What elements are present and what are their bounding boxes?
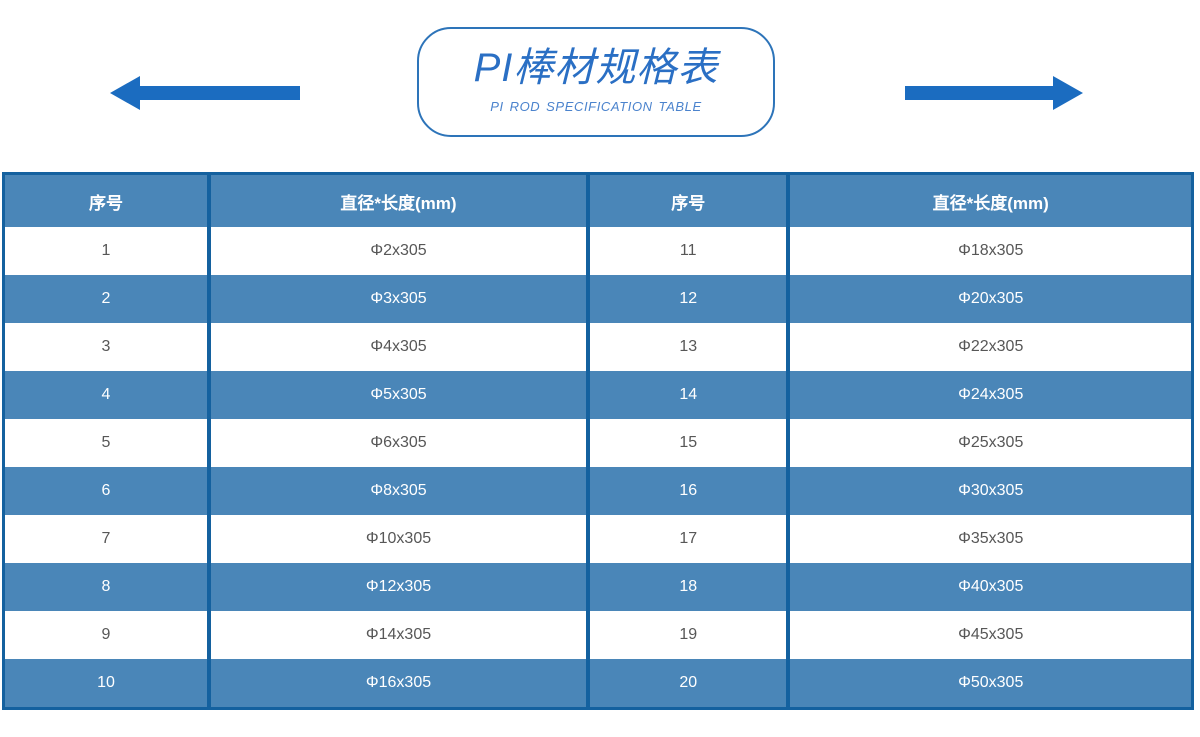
table-cell-no-left: 3 [4,323,210,371]
title-box: PI棒材规格表 PI Rod Specification Table [417,27,775,137]
table-cell-no-left: 5 [4,419,210,467]
table-cell-no-right: 17 [588,515,789,563]
table-cell-no-left: 7 [4,515,210,563]
spec-table: 序号 直径*长度(mm) 序号 直径*长度(mm) 1Φ2x30511Φ18x3… [2,172,1194,710]
table-cell-no-right: 20 [588,659,789,709]
table-cell-no-right: 15 [588,419,789,467]
arrow-right-icon [905,72,1083,92]
table-cell-no-left: 6 [4,467,210,515]
table-cell-no-right: 16 [588,467,789,515]
table-cell-no-left: 8 [4,563,210,611]
table-row: 4Φ5x30514Φ24x305 [4,371,1193,419]
banner: PI棒材规格表 PI Rod Specification Table [0,0,1200,165]
table-row: 1Φ2x30511Φ18x305 [4,227,1193,275]
table-row: 9Φ14x30519Φ45x305 [4,611,1193,659]
table-cell-spec-right: Φ30x305 [788,467,1192,515]
table-cell-no-right: 11 [588,227,789,275]
table-cell-spec-right: Φ24x305 [788,371,1192,419]
table-row: 7Φ10x30517Φ35x305 [4,515,1193,563]
table-cell-spec-left: Φ3x305 [209,275,588,323]
arrow-left-icon [110,72,300,92]
table-cell-no-left: 2 [4,275,210,323]
table-cell-spec-left: Φ5x305 [209,371,588,419]
table-cell-no-right: 13 [588,323,789,371]
table-row: 8Φ12x30518Φ40x305 [4,563,1193,611]
page-subtitle: PI Rod Specification Table [490,95,702,117]
table-cell-spec-left: Φ2x305 [209,227,588,275]
table-cell-spec-left: Φ10x305 [209,515,588,563]
page-title: PI棒材规格表 [474,47,719,89]
table-row: 10Φ16x30520Φ50x305 [4,659,1193,709]
table-cell-no-right: 19 [588,611,789,659]
table-header-row: 序号 直径*长度(mm) 序号 直径*长度(mm) [4,174,1193,228]
table-row: 2Φ3x30512Φ20x305 [4,275,1193,323]
table-cell-no-right: 18 [588,563,789,611]
table-cell-no-right: 12 [588,275,789,323]
table-cell-no-left: 4 [4,371,210,419]
table-header: 序号 直径*长度(mm) 序号 直径*长度(mm) [4,174,1193,228]
table-cell-spec-right: Φ50x305 [788,659,1192,709]
table-cell-no-left: 10 [4,659,210,709]
table-cell-spec-right: Φ40x305 [788,563,1192,611]
table-cell-spec-right: Φ20x305 [788,275,1192,323]
column-header-no-right: 序号 [588,174,789,228]
table-cell-spec-left: Φ8x305 [209,467,588,515]
table-body: 1Φ2x30511Φ18x3052Φ3x30512Φ20x3053Φ4x3051… [4,227,1193,709]
table-row: 5Φ6x30515Φ25x305 [4,419,1193,467]
table-cell-spec-left: Φ12x305 [209,563,588,611]
table-cell-spec-left: Φ14x305 [209,611,588,659]
table-cell-spec-right: Φ18x305 [788,227,1192,275]
table-row: 6Φ8x30516Φ30x305 [4,467,1193,515]
column-header-no-left: 序号 [4,174,210,228]
table-cell-spec-right: Φ25x305 [788,419,1192,467]
table-cell-spec-right: Φ22x305 [788,323,1192,371]
column-header-spec-right: 直径*长度(mm) [788,174,1192,228]
table-cell-spec-left: Φ4x305 [209,323,588,371]
table-cell-no-left: 1 [4,227,210,275]
table-cell-spec-right: Φ45x305 [788,611,1192,659]
table-row: 3Φ4x30513Φ22x305 [4,323,1193,371]
table-cell-spec-right: Φ35x305 [788,515,1192,563]
table-cell-no-left: 9 [4,611,210,659]
column-header-spec-left: 直径*长度(mm) [209,174,588,228]
table-cell-spec-left: Φ6x305 [209,419,588,467]
table-cell-no-right: 14 [588,371,789,419]
table-cell-spec-left: Φ16x305 [209,659,588,709]
